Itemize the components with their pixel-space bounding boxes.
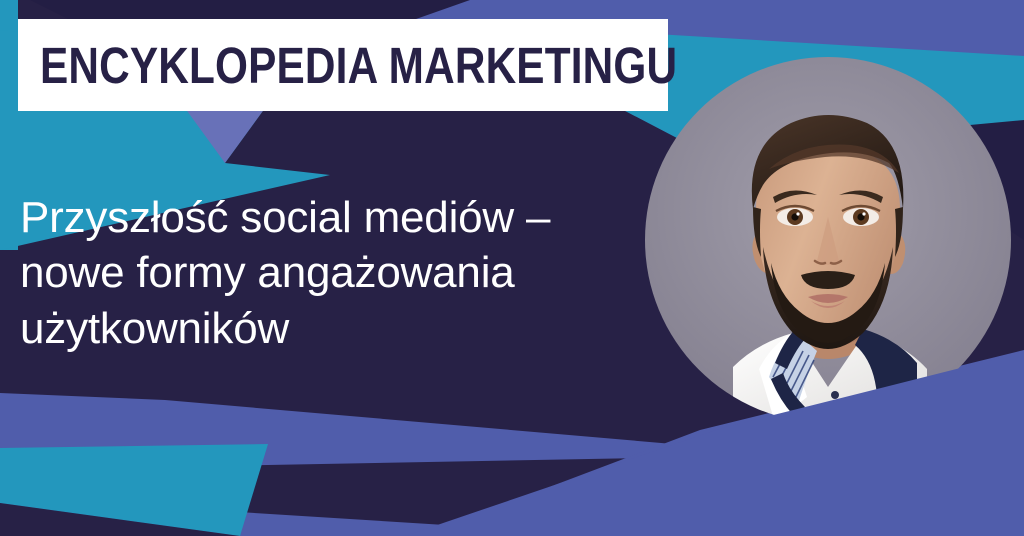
portrait-photo [645,57,1011,423]
kicker-label: ENCYKLOPEDIA MARKETINGU [40,40,677,91]
encyclopedia-marketing-banner: ENCYKLOPEDIA MARKETINGU Przyszłość socia… [0,0,1024,536]
kicker-banner: ENCYKLOPEDIA MARKETINGU [18,19,668,111]
headline-title: Przyszłość social mediów – nowe formy an… [20,190,660,356]
eye-highlight-right [862,212,865,215]
portrait-content [645,57,1011,423]
shirt-button [831,391,839,399]
eye-highlight-left [796,212,799,215]
